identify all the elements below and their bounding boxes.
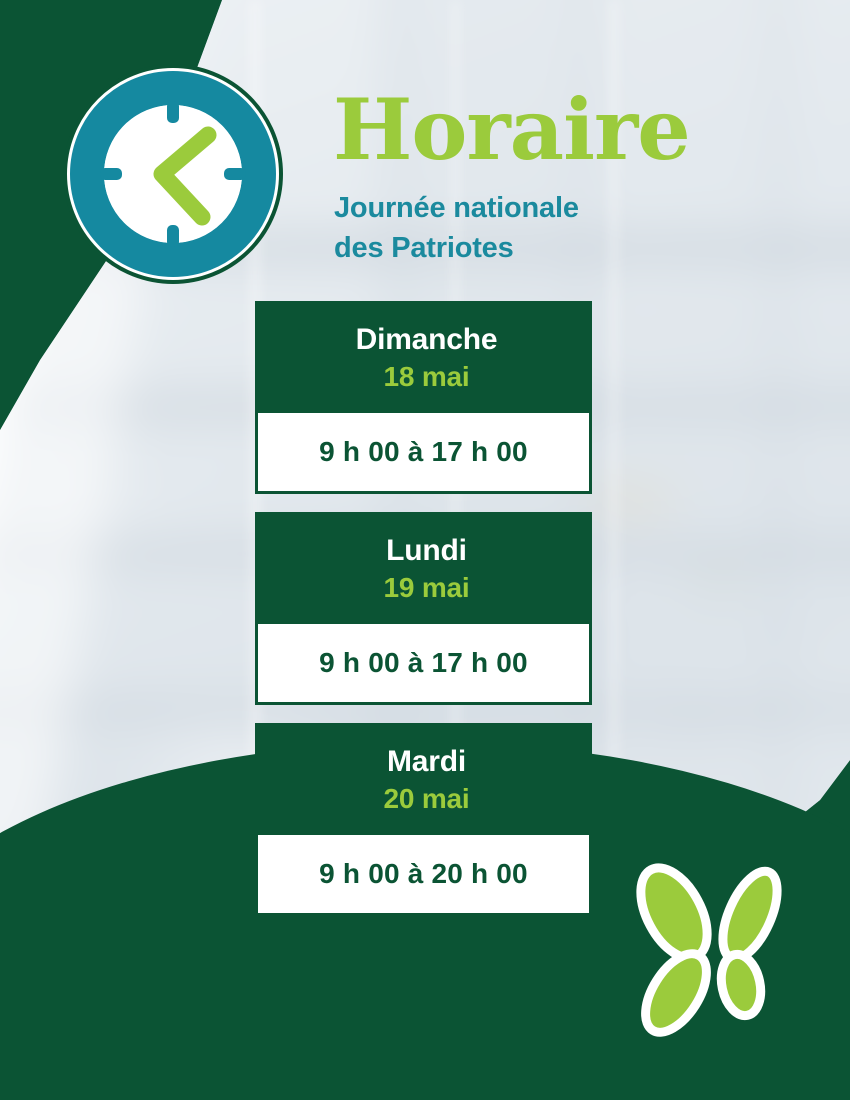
schedule-poster: Horaire Journée nationale des Patriotes … [0,0,850,1100]
schedule-day-label: Lundi [255,532,592,570]
schedule-card: Dimanche 18 mai 9 h 00 à 17 h 00 [255,301,592,494]
schedule-date-label: 20 mai [255,781,592,817]
schedule-hours-label: 9 h 00 à 17 h 00 [255,624,592,705]
schedule-card-header: Lundi 19 mai [255,512,592,624]
schedule-card-header: Mardi 20 mai [255,723,592,835]
schedule-date-label: 18 mai [255,359,592,395]
schedule-date-label: 19 mai [255,570,592,606]
schedule-hours-label: 9 h 00 à 17 h 00 [255,413,592,494]
butterfly-logo-icon [618,855,808,1045]
schedule-hours-label: 9 h 00 à 20 h 00 [255,835,592,916]
schedule-card: Mardi 20 mai 9 h 00 à 20 h 00 [255,723,592,916]
schedule-card: Lundi 19 mai 9 h 00 à 17 h 00 [255,512,592,705]
schedule-day-label: Mardi [255,743,592,781]
schedule-card-header: Dimanche 18 mai [255,301,592,413]
schedule-day-label: Dimanche [255,321,592,359]
